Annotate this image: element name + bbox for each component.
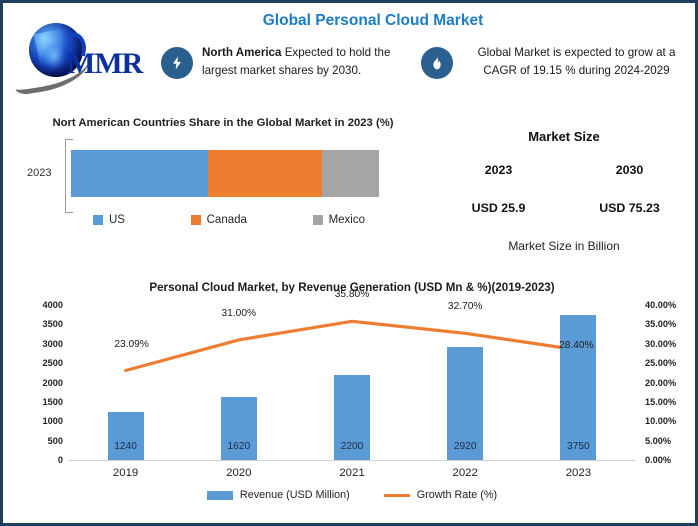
legend-item-revenue[interactable]: Revenue (USD Million) <box>207 489 350 501</box>
legend-label-canada: Canada <box>207 214 247 226</box>
x-axis-category: 2020 <box>184 467 294 479</box>
growth-rate-value: 28.40% <box>559 340 594 351</box>
market-size-title: Market Size <box>433 129 695 144</box>
legend-label-growth-rate: Growth Rate (%) <box>417 489 497 501</box>
y-tick-left-7: 500 <box>48 436 63 446</box>
y-tick-right-4: 20.00% <box>645 378 676 388</box>
lightning-bolt-icon <box>161 47 193 79</box>
y-tick-left-8: 0 <box>58 455 63 465</box>
fact-lead: North America <box>202 46 281 59</box>
market-size-year-to: 2030 <box>564 163 695 177</box>
y-tick-left-6: 1000 <box>43 416 63 426</box>
legend-item-canada[interactable]: Canada <box>191 214 247 226</box>
legend-swatch-growth-rate <box>384 494 410 497</box>
growth-rate-value: 32.70% <box>448 301 483 312</box>
share-stacked-bar <box>71 150 379 197</box>
revenue-chart-baseline <box>69 460 635 461</box>
market-size-year-from: 2023 <box>433 163 564 177</box>
revenue-chart-y-axis-right: 40.00%35.00%30.00%25.00%20.00%15.00%10.0… <box>639 305 695 460</box>
growth-rate-value: 31.00% <box>222 308 257 319</box>
share-chart-title: Nort American Countries Share in the Glo… <box>43 115 403 131</box>
legend-label-revenue: Revenue (USD Million) <box>240 489 350 501</box>
legend-swatch-canada <box>191 215 201 225</box>
header: MMR Global Personal Cloud Market North A… <box>3 3 695 108</box>
fact-cagr: Global Market is expected to grow at a C… <box>421 43 689 80</box>
x-axis-category: 2021 <box>297 467 407 479</box>
page-title: Global Personal Cloud Market <box>183 12 563 30</box>
x-axis-category: 2023 <box>523 467 633 479</box>
logo-text: MMR <box>67 47 142 81</box>
y-tick-right-5: 15.00% <box>645 397 676 407</box>
mmr-logo: MMR <box>11 17 156 95</box>
y-tick-right-2: 30.00% <box>645 339 676 349</box>
y-tick-right-6: 10.00% <box>645 416 676 426</box>
y-tick-left-4: 2000 <box>43 378 63 388</box>
share-chart-legend: US Canada Mexico <box>71 214 387 226</box>
legend-label-mexico: Mexico <box>329 214 365 226</box>
fact-north-america-text: North America Expected to hold the large… <box>202 44 416 80</box>
revenue-bar[interactable] <box>108 412 144 460</box>
x-axis-category: 2019 <box>71 467 181 479</box>
y-tick-right-8: 0.00% <box>645 455 671 465</box>
legend-item-mexico[interactable]: Mexico <box>313 214 365 226</box>
infographic-root: MMR Global Personal Cloud Market North A… <box>0 0 698 526</box>
market-size-value-from: USD 25.9 <box>433 201 564 215</box>
y-tick-left-1: 3500 <box>43 319 63 329</box>
market-size-value-to: USD 75.23 <box>564 201 695 215</box>
x-axis-category: 2022 <box>410 467 520 479</box>
market-size-footer: Market Size in Billion <box>433 239 695 253</box>
revenue-bar[interactable] <box>560 315 596 460</box>
flame-icon <box>421 47 453 79</box>
revenue-chart-legend: Revenue (USD Million) Growth Rate (%) <box>7 489 697 501</box>
y-tick-left-2: 3000 <box>43 339 63 349</box>
y-tick-right-3: 25.00% <box>645 358 676 368</box>
revenue-bar-value: 3750 <box>560 441 596 452</box>
y-tick-left-3: 2500 <box>43 358 63 368</box>
y-tick-right-1: 35.00% <box>645 319 676 329</box>
fact-north-america: North America Expected to hold the large… <box>161 43 416 80</box>
legend-swatch-revenue <box>207 491 233 500</box>
share-chart-category-label: 2023 <box>27 167 51 179</box>
revenue-bar-value: 1620 <box>221 441 257 452</box>
y-tick-right-7: 5.00% <box>645 436 671 446</box>
y-tick-left-5: 1500 <box>43 397 63 407</box>
share-segment-mexico[interactable] <box>322 150 379 197</box>
revenue-bar-value: 2200 <box>334 441 370 452</box>
revenue-bar-value: 1240 <box>108 441 144 452</box>
market-size-years: 2023 2030 <box>433 163 695 177</box>
growth-rate-value: 23.09% <box>114 339 149 350</box>
share-chart: Nort American Countries Share in the Glo… <box>9 111 429 271</box>
growth-rate-value: 35.80% <box>335 289 370 300</box>
legend-label-us: US <box>109 214 125 226</box>
market-size-values: USD 25.9 USD 75.23 <box>433 201 695 215</box>
legend-swatch-mexico <box>313 215 323 225</box>
legend-swatch-us <box>93 215 103 225</box>
revenue-bar-value: 2920 <box>447 441 483 452</box>
revenue-chart-plot: 1240162022002920375023.09%31.00%35.80%32… <box>69 305 635 460</box>
legend-item-us[interactable]: US <box>93 214 125 226</box>
revenue-chart: Personal Cloud Market, by Revenue Genera… <box>7 279 697 525</box>
legend-item-growth-rate[interactable]: Growth Rate (%) <box>384 489 497 501</box>
y-tick-left-0: 4000 <box>43 300 63 310</box>
market-size-panel: Market Size 2023 2030 USD 25.9 USD 75.23… <box>433 129 695 269</box>
share-segment-canada[interactable] <box>208 150 322 197</box>
y-tick-right-0: 40.00% <box>645 300 676 310</box>
fact-cagr-text: Global Market is expected to grow at a C… <box>464 44 689 80</box>
share-segment-us[interactable] <box>71 150 208 197</box>
revenue-chart-y-axis-left: 40003500300025002000150010005000 <box>11 305 67 460</box>
